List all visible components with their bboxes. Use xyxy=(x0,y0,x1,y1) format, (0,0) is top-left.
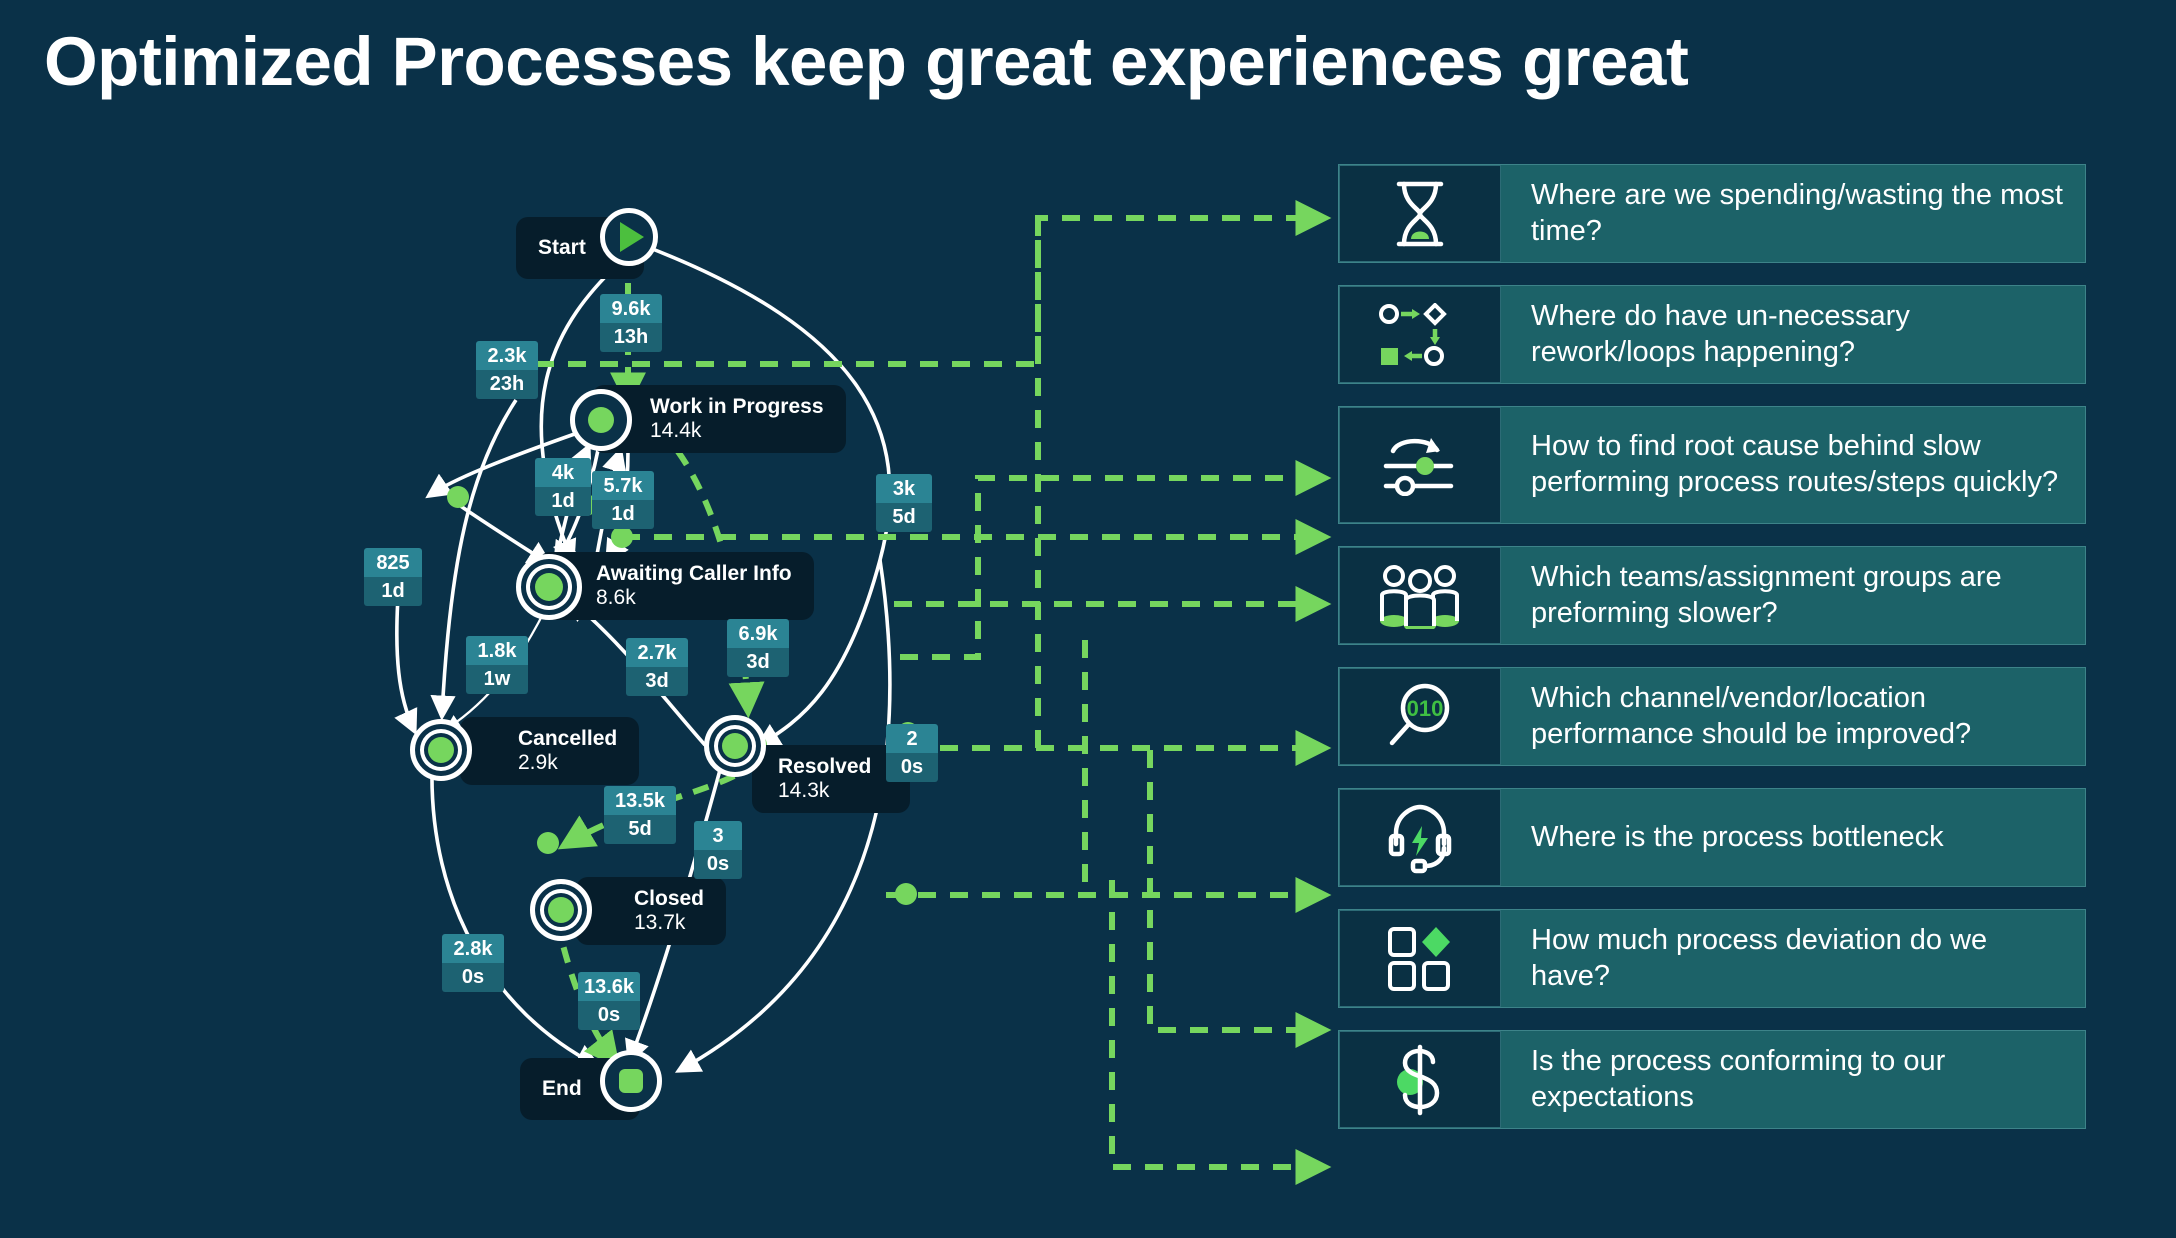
edge-chip-9.6k: 9.6k 13h xyxy=(600,294,662,352)
card-bottleneck[interactable]: Where is the process bottleneck xyxy=(1338,788,2086,887)
node-closed-count: 13.7k xyxy=(634,911,685,935)
edge-chip-2.7k: 2.7k 3d xyxy=(626,638,688,696)
root-cause-slider-icon xyxy=(1339,407,1501,523)
edge-chip-2.8k: 2.8k 0s xyxy=(442,934,504,992)
node-awaiting-caller-info[interactable]: Awaiting Caller Info 8.6k xyxy=(538,552,814,620)
node-cancelled-count: 2.9k xyxy=(518,751,558,775)
node-awaiting-label: Awaiting Caller Info xyxy=(596,562,792,586)
dot-icon xyxy=(548,897,574,923)
dot-icon xyxy=(588,407,614,433)
dollar-icon xyxy=(1339,1031,1501,1128)
card-root-cause[interactable]: How to find root cause behind slow perfo… xyxy=(1338,406,2086,524)
card-teams-performance-text: Which teams/assignment groups are prefor… xyxy=(1501,547,2085,644)
edge-chip-13.6k: 13.6k 0s xyxy=(578,972,640,1030)
node-work-in-progress[interactable]: Work in Progress 14.4k xyxy=(592,385,846,453)
node-closed[interactable]: Closed 13.7k xyxy=(576,877,726,945)
card-rework-loops-text: Where do have un-necessary rework/loops … xyxy=(1501,286,2085,383)
node-resolved-label: Resolved xyxy=(778,755,871,779)
node-wip-label: Work in Progress xyxy=(650,395,824,419)
edge-chip-3: 3 0s xyxy=(694,821,742,879)
edge-chip-2.3k: 2.3k 23h xyxy=(476,341,538,399)
edge-chip-5.7k: 5.7k 1d xyxy=(592,471,654,529)
dot-icon xyxy=(535,573,563,601)
magnifier-binary-icon: 010 xyxy=(1339,668,1501,765)
node-start-label: Start xyxy=(538,236,586,260)
card-channel-performance-text: Which channel/vendor/location performanc… xyxy=(1501,668,2085,765)
closed-node-ring[interactable] xyxy=(530,879,592,941)
node-cancelled-label: Cancelled xyxy=(518,727,617,751)
node-closed-label: Closed xyxy=(634,887,704,911)
dot-icon xyxy=(428,737,454,763)
rework-loop-icon xyxy=(1339,286,1501,383)
stop-icon xyxy=(619,1069,643,1093)
node-end[interactable]: End xyxy=(520,1058,640,1120)
card-teams-performance[interactable]: Which teams/assignment groups are prefor… xyxy=(1338,546,2086,645)
resolved-node-ring[interactable] xyxy=(704,715,766,777)
end-node-ring[interactable] xyxy=(600,1050,662,1112)
awaiting-node-ring[interactable] xyxy=(516,554,582,620)
start-node-ring[interactable] xyxy=(600,208,658,266)
card-deviation[interactable]: How much process deviation do we have? xyxy=(1338,909,2086,1008)
slide-canvas: Optimized Processes keep great experienc… xyxy=(0,0,2176,1238)
cancelled-node-ring[interactable] xyxy=(410,719,472,781)
card-conformance-text: Is the process conforming to our expecta… xyxy=(1501,1031,2085,1128)
node-awaiting-count: 8.6k xyxy=(596,586,636,610)
card-root-cause-text: How to find root cause behind slow perfo… xyxy=(1501,407,2085,523)
card-bottleneck-text: Where is the process bottleneck xyxy=(1501,789,2085,886)
hourglass-icon xyxy=(1339,165,1501,262)
teams-group-icon xyxy=(1339,547,1501,644)
node-cancelled[interactable]: Cancelled 2.9k xyxy=(460,717,639,785)
edge-chip-4k: 4k 1d xyxy=(535,458,591,516)
card-conformance[interactable]: Is the process conforming to our expecta… xyxy=(1338,1030,2086,1129)
node-wip-count: 14.4k xyxy=(650,419,701,443)
deviation-shapes-icon xyxy=(1339,910,1501,1007)
card-spending-time-text: Where are we spending/wasting the most t… xyxy=(1501,165,2085,262)
edge-chip-3k: 3k 5d xyxy=(876,474,932,532)
insight-question-list: Where are we spending/wasting the most t… xyxy=(1338,0,2176,1238)
edge-chip-1.8k: 1.8k 1w xyxy=(466,636,528,694)
card-rework-loops[interactable]: Where do have un-necessary rework/loops … xyxy=(1338,285,2086,384)
svg-text:010: 010 xyxy=(1407,696,1444,721)
node-end-label: End xyxy=(542,1077,582,1101)
card-deviation-text: How much process deviation do we have? xyxy=(1501,910,2085,1007)
card-channel-performance[interactable]: 010 Which channel/vendor/location perfor… xyxy=(1338,667,2086,766)
node-resolved-count: 14.3k xyxy=(778,779,829,803)
headset-bolt-icon xyxy=(1339,789,1501,886)
edge-chip-825: 825 1d xyxy=(364,548,422,606)
edge-chip-6.9k: 6.9k 3d xyxy=(727,619,789,677)
edge-chip-13.5k: 13.5k 5d xyxy=(604,786,676,844)
card-spending-time[interactable]: Where are we spending/wasting the most t… xyxy=(1338,164,2086,263)
play-icon xyxy=(620,222,644,252)
node-start[interactable]: Start xyxy=(516,217,644,279)
wip-node-ring[interactable] xyxy=(570,389,632,451)
edge-chip-2: 2 0s xyxy=(886,724,938,782)
dot-icon xyxy=(722,733,748,759)
